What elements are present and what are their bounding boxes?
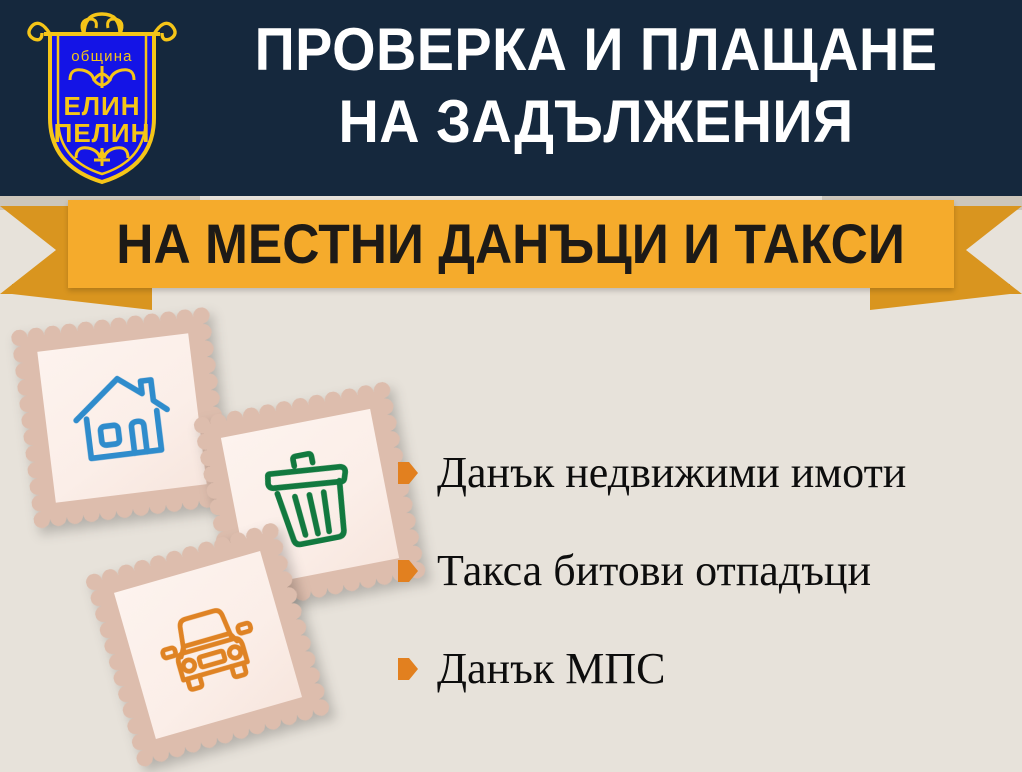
coat-of-arms-icon: община ЕЛИН ПЕЛИН: [22, 8, 182, 188]
arrow-bullet-icon: [398, 560, 418, 582]
subtitle-ribbon: НА МЕСТНИ ДАНЪЦИ И ТАКСИ: [0, 196, 1022, 296]
municipality-logo: община ЕЛИН ПЕЛИН: [22, 8, 182, 188]
list-item[interactable]: Такса битови отпадъци: [398, 522, 1018, 620]
page-title: ПРОВЕРКА И ПЛАЩАНЕ НА ЗАДЪЛЖЕНИЯ: [186, 14, 1006, 158]
list-item[interactable]: Данък недвижими имоти: [398, 424, 1018, 522]
list-item-label: Данък МПС: [437, 645, 665, 693]
poster-canvas: община ЕЛИН ПЕЛИН: [0, 0, 1022, 772]
svg-text:ПЕЛИН: ПЕЛИН: [54, 118, 151, 148]
list-item-label: Такса битови отпадъци: [437, 547, 871, 595]
page-title-line-1: ПРОВЕРКА И ПЛАЩАНЕ: [215, 14, 978, 86]
list-item-label: Данък недвижими имоти: [437, 449, 906, 497]
svg-text:ЕЛИН: ЕЛИН: [63, 91, 140, 121]
svg-text:община: община: [71, 48, 132, 65]
poster-header: община ЕЛИН ПЕЛИН: [0, 0, 1022, 196]
page-title-line-2: НА ЗАДЪЛЖЕНИЯ: [215, 86, 978, 158]
arrow-bullet-icon: [398, 658, 418, 680]
obligations-list: Данък недвижими имоти Такса битови отпад…: [398, 424, 1018, 718]
list-item[interactable]: Данък МПС: [398, 620, 1018, 718]
car-icon: [144, 581, 273, 710]
stamp-face: [37, 333, 206, 502]
ribbon-label: НА МЕСТНИ ДАНЪЦИ И ТАКСИ: [117, 216, 906, 272]
house-icon: [64, 360, 180, 476]
arrow-bullet-icon: [398, 462, 418, 484]
ribbon-banner: НА МЕСТНИ ДАНЪЦИ И ТАКСИ: [68, 200, 954, 288]
